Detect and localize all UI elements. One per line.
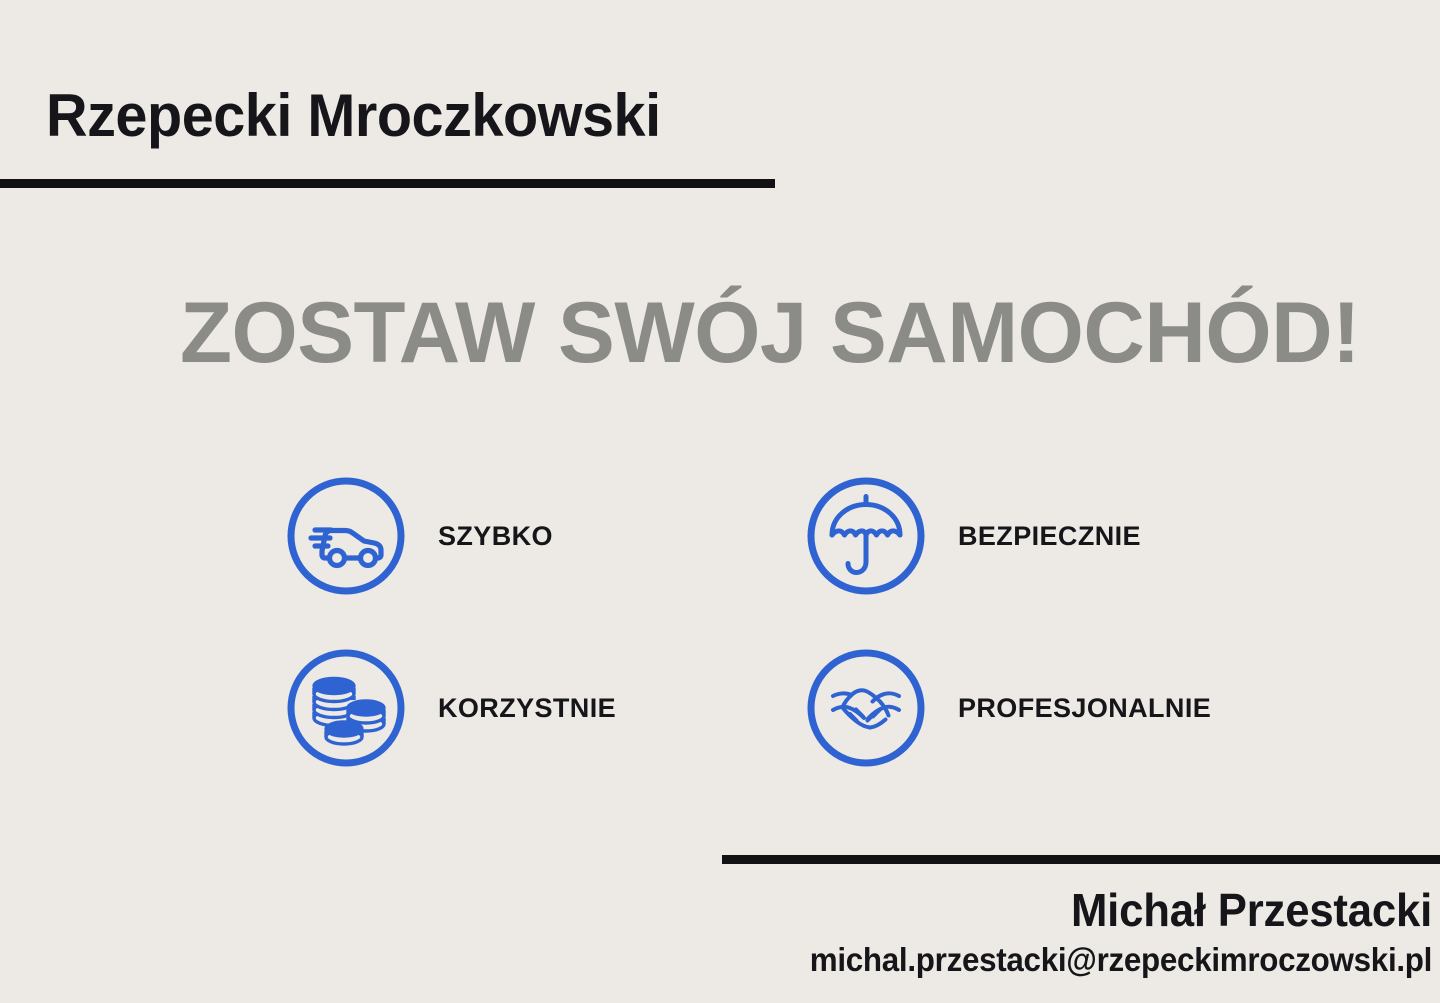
page-title: Rzepecki Mroczkowski bbox=[46, 84, 661, 147]
feature-label: BEZPIECZNIE bbox=[958, 521, 1141, 552]
feature-label: PROFESJONALNIE bbox=[958, 693, 1211, 724]
feature-label: KORZYSTNIE bbox=[438, 693, 616, 724]
feature-label: SZYBKO bbox=[438, 521, 553, 552]
headline: ZOSTAW SWÓJ SAMOCHÓD! bbox=[180, 288, 1360, 378]
feature-grid: SZYBKO BEZPIECZNIE bbox=[282, 450, 1292, 794]
header-divider bbox=[0, 179, 775, 188]
coins-stack-icon bbox=[282, 644, 410, 772]
contact-block: Michał Przestacki michal.przestacki@rzep… bbox=[777, 885, 1432, 979]
contact-email: michal.przestacki@rzepeckimroczowski.pl bbox=[810, 942, 1432, 979]
feature-item-profesjonalnie: PROFESJONALNIE bbox=[802, 622, 1292, 794]
contact-name: Michał Przestacki bbox=[810, 885, 1432, 936]
feature-item-szybko: SZYBKO bbox=[282, 450, 802, 622]
handshake-icon bbox=[802, 644, 930, 772]
feature-item-korzystnie: KORZYSTNIE bbox=[282, 622, 802, 794]
feature-item-bezpiecznie: BEZPIECZNIE bbox=[802, 450, 1292, 622]
umbrella-icon bbox=[802, 472, 930, 600]
footer-divider bbox=[722, 855, 1440, 864]
slide-canvas: Rzepecki Mroczkowski ZOSTAW SWÓJ SAMOCHÓ… bbox=[0, 0, 1440, 1003]
car-speed-icon bbox=[282, 472, 410, 600]
